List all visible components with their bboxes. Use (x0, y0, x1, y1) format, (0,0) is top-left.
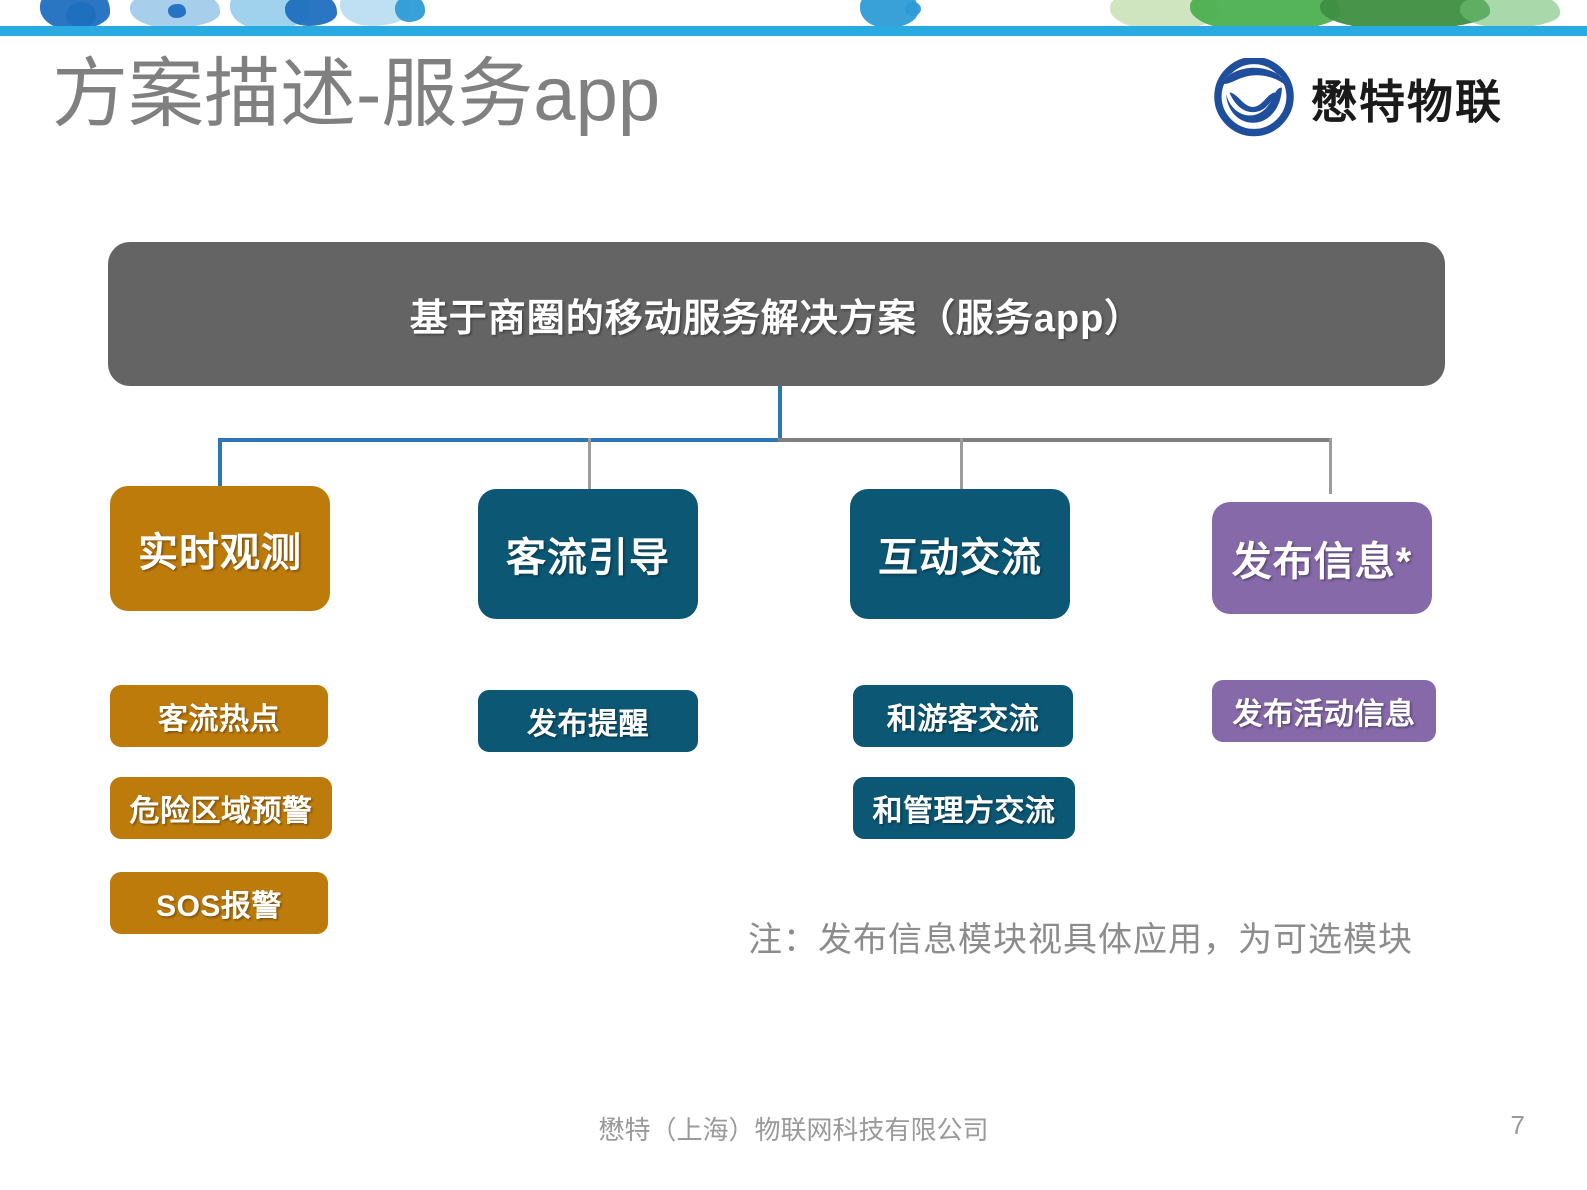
connector-drop-col2 (588, 438, 591, 494)
connector-drop-col4 (1329, 438, 1332, 494)
paint-splatter (1460, 0, 1560, 28)
footer-company-name: 懋特（上海）物联网科技有限公司 (0, 1110, 1587, 1147)
connector-bus-right (778, 438, 1332, 442)
brand-logo: 懋特物联 (1213, 58, 1503, 140)
paint-splatter (168, 4, 186, 18)
page-title: 方案描述-服务app (52, 52, 660, 137)
footer-page-number: 7 (1511, 1110, 1525, 1141)
connector-drop-col3 (960, 438, 963, 494)
sub-node-sos-alarm[interactable]: SOS报警 (110, 872, 328, 934)
sub-node-publish-activity-info[interactable]: 发布活动信息 (1212, 680, 1436, 742)
connector-root-stem (778, 386, 782, 442)
category-node-realtime-observation[interactable]: 实时观测 (110, 486, 330, 611)
category-node-publish-information[interactable]: 发布信息* (1212, 502, 1432, 614)
category-node-interaction[interactable]: 互动交流 (850, 489, 1070, 619)
sub-node-chat-with-tourists[interactable]: 和游客交流 (853, 685, 1073, 747)
decorative-top-banner (0, 0, 1587, 36)
sub-node-danger-zone-alert[interactable]: 危险区域预警 (110, 777, 332, 839)
paint-splatter (285, 0, 337, 26)
connector-drop-col1 (218, 438, 222, 486)
sub-node-chat-with-management[interactable]: 和管理方交流 (853, 777, 1075, 839)
root-node-solution[interactable]: 基于商圈的移动服务解决方案（服务app） (108, 242, 1445, 386)
sub-node-passenger-hotspot[interactable]: 客流热点 (110, 685, 328, 747)
paint-splatter (905, 2, 921, 16)
mt-swoosh-logo-icon (1213, 58, 1295, 140)
connector-bus-left (218, 438, 782, 442)
paint-splatter (66, 2, 96, 28)
paint-splatter (395, 0, 425, 22)
solution-architecture-diagram: 基于商圈的移动服务解决方案（服务app） 实时观测 客流热点 危险区域预警 SO… (0, 0, 1587, 1190)
logo-wordmark: 懋特物联 (1311, 66, 1503, 132)
footnote-text: 注：发布信息模块视具体应用，为可选模块 (748, 912, 1413, 961)
category-node-passenger-guidance[interactable]: 客流引导 (478, 489, 698, 619)
banner-accent-rule (0, 26, 1587, 36)
sub-node-publish-reminder[interactable]: 发布提醒 (478, 690, 698, 752)
